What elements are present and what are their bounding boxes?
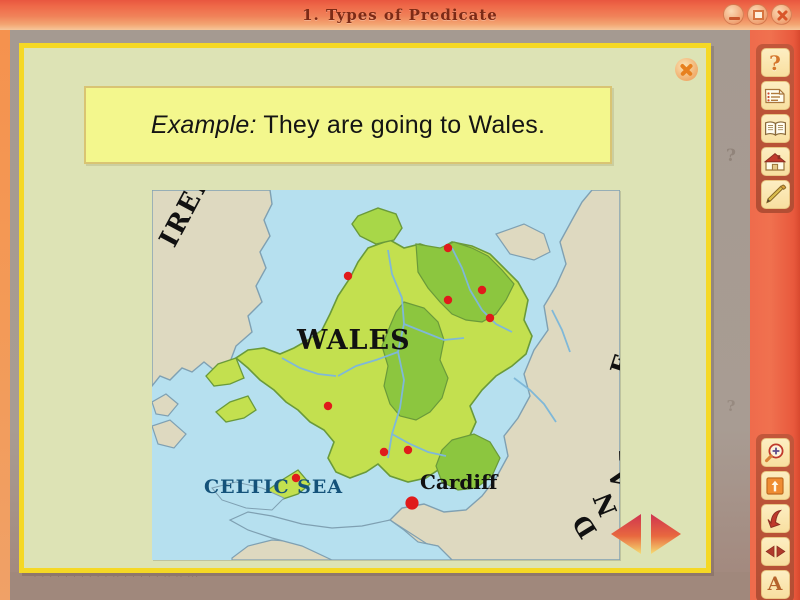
dictionary-button[interactable] xyxy=(761,114,790,143)
slide-canvas: Example: They are going to Wales. xyxy=(19,43,711,573)
city-dot xyxy=(404,446,412,454)
example-box: Example: They are going to Wales. xyxy=(84,86,612,164)
map-label-cardiff: Cardiff xyxy=(420,470,497,494)
home-button[interactable] xyxy=(761,147,790,176)
application-window: 1. Types of Predicate ? ? . . . . . . . … xyxy=(0,0,800,600)
map-label-wales: WALES xyxy=(297,325,411,356)
right-triangle-icon xyxy=(649,513,683,555)
magnifier-plus-icon xyxy=(764,442,786,464)
example-lead: Example: xyxy=(151,111,257,139)
minimize-button[interactable] xyxy=(723,4,744,25)
up-arrow-box-icon xyxy=(765,476,785,496)
city-dot xyxy=(486,314,494,322)
previous-slide-button[interactable] xyxy=(609,513,643,555)
house-icon xyxy=(764,152,786,171)
close-button[interactable] xyxy=(771,4,792,25)
toolbar-bottom-group: A xyxy=(756,434,794,600)
next-slide-button[interactable] xyxy=(649,513,683,555)
left-triangle-icon xyxy=(609,513,643,555)
minimize-icon xyxy=(729,17,740,20)
page-title: 1. Types of Predicate xyxy=(0,0,800,30)
list-document-icon xyxy=(764,87,786,105)
question-mark-icon: ? xyxy=(769,53,781,73)
map-label-celtic-sea: CELTIC SEA xyxy=(204,476,343,498)
contents-button[interactable] xyxy=(761,81,790,110)
example-sentence: Example: They are going to Wales. xyxy=(151,111,545,140)
curved-arrow-icon xyxy=(765,508,786,529)
open-book-icon xyxy=(764,120,787,138)
map-of-wales: IRELAND WALES Cardiff CELTIC SEA E N G L… xyxy=(152,190,620,560)
city-dot xyxy=(444,244,452,252)
city-dot xyxy=(324,402,332,410)
city-dot xyxy=(380,448,388,456)
zoom-in-button[interactable] xyxy=(761,438,790,467)
letter-a-icon: A xyxy=(768,575,783,594)
maximize-icon xyxy=(753,10,764,20)
resize-button[interactable] xyxy=(761,537,790,566)
slide-close-button[interactable] xyxy=(675,58,698,81)
left-right-arrows-icon xyxy=(764,544,787,559)
pencil-icon xyxy=(764,184,787,205)
example-body: They are going to Wales. xyxy=(257,111,545,139)
help-button[interactable]: ? xyxy=(761,48,790,77)
background-help-icon-secondary: ? xyxy=(718,393,744,419)
city-dot xyxy=(344,272,352,280)
left-frame-edge xyxy=(0,30,10,600)
toolbar-top-group: ? xyxy=(756,44,794,213)
city-dot xyxy=(444,296,452,304)
city-dot xyxy=(478,286,486,294)
info-button[interactable] xyxy=(761,471,790,500)
title-bar: 1. Types of Predicate xyxy=(0,0,800,30)
maximize-button[interactable] xyxy=(747,4,768,25)
capital-dot xyxy=(405,496,418,509)
jump-button[interactable] xyxy=(761,504,790,533)
background-help-icon: ? xyxy=(718,143,744,169)
window-controls xyxy=(723,4,792,25)
right-toolbar: ? xyxy=(750,30,800,600)
slide-navigation xyxy=(609,513,685,555)
font-button[interactable]: A xyxy=(761,570,790,599)
annotate-button[interactable] xyxy=(761,180,790,209)
close-icon xyxy=(679,62,694,77)
